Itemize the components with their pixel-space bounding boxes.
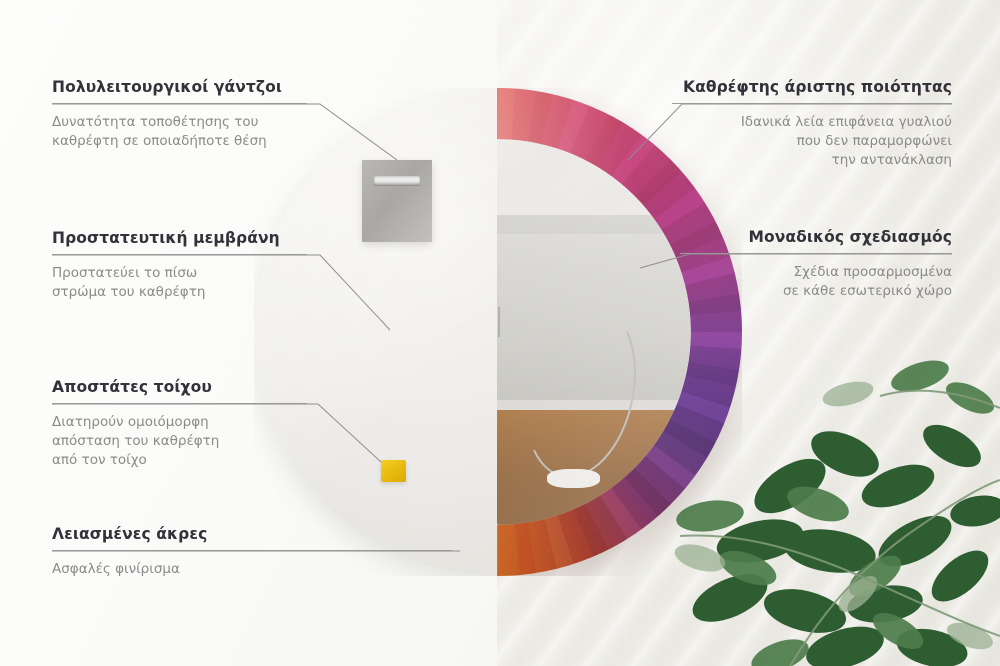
feature-title: Πολυλειτουργικοί γάντζοι — [52, 78, 307, 96]
feature-rule — [52, 254, 307, 255]
feature-title: Αποστάτες τοίχου — [52, 378, 307, 396]
feature-title: Προστατευτική μεμβράνη — [52, 229, 307, 247]
foliage-icon — [670, 336, 1000, 666]
feature-description: Ιδανικά λεία επιφάνεια γυαλιούπου δεν πα… — [672, 113, 952, 170]
feature-description: Προστατεύει το πίσωστρώμα του καθρέφτη — [52, 264, 307, 302]
feature-title: Καθρέφτης άριστης ποιότητας — [672, 78, 952, 96]
feature-block-left-3: Αποστάτες τοίχου Διατηρούν ομοιόμορφηαπό… — [52, 378, 307, 470]
feature-description: Ασφαλές φινίρισμα — [52, 560, 452, 579]
feature-title: Λειασμένες άκρες — [52, 525, 452, 543]
feature-block-right-2: Μοναδικός σχεδιασμός Σχέδια προσαρμοσμέν… — [680, 228, 952, 301]
feature-rule — [680, 253, 952, 254]
feature-rule — [52, 103, 307, 104]
infographic-stage: Πολυλειτουργικοί γάντζοι Δυνατότητα τοπο… — [0, 0, 1000, 666]
feature-block-right-1: Καθρέφτης άριστης ποιότητας Ιδανικά λεία… — [672, 78, 952, 170]
feature-rule — [52, 403, 307, 404]
feature-block-left-1: Πολυλειτουργικοί γάντζοι Δυνατότητα τοπο… — [52, 78, 307, 151]
feature-block-left-2: Προστατευτική μεμβράνη Προστατεύει το πί… — [52, 229, 307, 302]
feature-rule — [672, 103, 952, 104]
feature-description: Σχέδια προσαρμοσμένασε κάθε εσωτερικό χώ… — [680, 263, 952, 301]
feature-title: Μοναδικός σχεδιασμός — [680, 228, 952, 246]
feature-description: Δυνατότητα τοποθέτησης τουκαθρέφτη σε οπ… — [52, 113, 307, 151]
feature-block-left-4: Λειασμένες άκρες Ασφαλές φινίρισμα — [52, 525, 452, 579]
feature-rule — [52, 550, 452, 551]
feature-description: Διατηρούν ομοιόμορφηαπόσταση του καθρέφτ… — [52, 413, 307, 470]
